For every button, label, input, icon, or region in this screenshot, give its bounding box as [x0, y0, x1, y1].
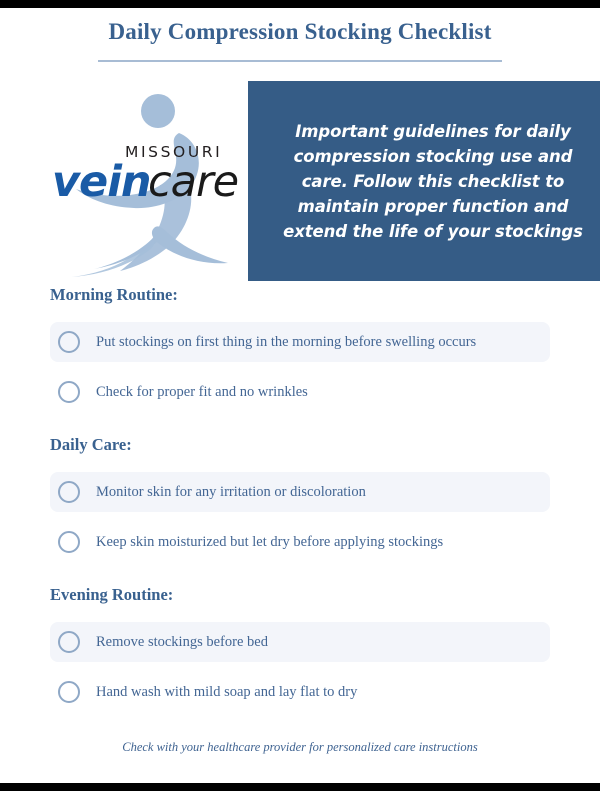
checkbox-circle-icon[interactable] [58, 531, 80, 553]
checkbox-circle-icon[interactable] [58, 481, 80, 503]
checklist-items: Remove stockings before bed Hand wash wi… [50, 622, 550, 712]
missouri-vein-care-logo: MISSOURI vein care [50, 81, 246, 281]
logo-care-text: care [148, 157, 238, 207]
list-item[interactable]: Check for proper fit and no wrinkles [50, 372, 550, 412]
title-divider [98, 60, 502, 62]
checkbox-circle-icon[interactable] [58, 381, 80, 403]
section-morning-routine: Morning Routine: Put stockings on first … [50, 284, 550, 412]
footer-note: Check with your healthcare provider for … [0, 738, 600, 756]
title-block: Daily Compression Stocking Checklist [0, 14, 600, 50]
section-evening-routine: Evening Routine: Remove stockings before… [50, 584, 550, 712]
list-item[interactable]: Put stockings on first thing in the morn… [50, 322, 550, 362]
list-item-label: Hand wash with mild soap and lay flat to… [96, 682, 357, 702]
bottom-edge-bar [0, 783, 600, 791]
list-item-label: Check for proper fit and no wrinkles [96, 382, 308, 402]
list-item-label: Put stockings on first thing in the morn… [96, 332, 476, 352]
top-edge-bar [0, 0, 600, 8]
checkbox-circle-icon[interactable] [58, 681, 80, 703]
checklist-page: Daily Compression Stocking Checklist MIS… [0, 0, 600, 800]
list-item-label: Monitor skin for any irritation or disco… [96, 482, 366, 502]
checklist-items: Monitor skin for any irritation or disco… [50, 472, 550, 562]
list-item-label: Remove stockings before bed [96, 632, 268, 652]
list-item[interactable]: Hand wash with mild soap and lay flat to… [50, 672, 550, 712]
checklist-items: Put stockings on first thing in the morn… [50, 322, 550, 412]
checkbox-circle-icon[interactable] [58, 631, 80, 653]
callout-text: Important guidelines for daily compressi… [268, 119, 598, 244]
guidelines-callout: Important guidelines for daily compressi… [248, 81, 600, 281]
list-item[interactable]: Monitor skin for any irritation or disco… [50, 472, 550, 512]
section-heading: Daily Care: [50, 434, 550, 456]
section-heading: Evening Routine: [50, 584, 550, 606]
section-heading: Morning Routine: [50, 284, 550, 306]
page-title: Daily Compression Stocking Checklist [0, 14, 600, 50]
list-item[interactable]: Remove stockings before bed [50, 622, 550, 662]
logo-vein-text: vein [52, 157, 151, 207]
list-item-label: Keep skin moisturized but let dry before… [96, 532, 443, 552]
section-daily-care: Daily Care: Monitor skin for any irritat… [50, 434, 550, 562]
list-item[interactable]: Keep skin moisturized but let dry before… [50, 522, 550, 562]
checkbox-circle-icon[interactable] [58, 331, 80, 353]
